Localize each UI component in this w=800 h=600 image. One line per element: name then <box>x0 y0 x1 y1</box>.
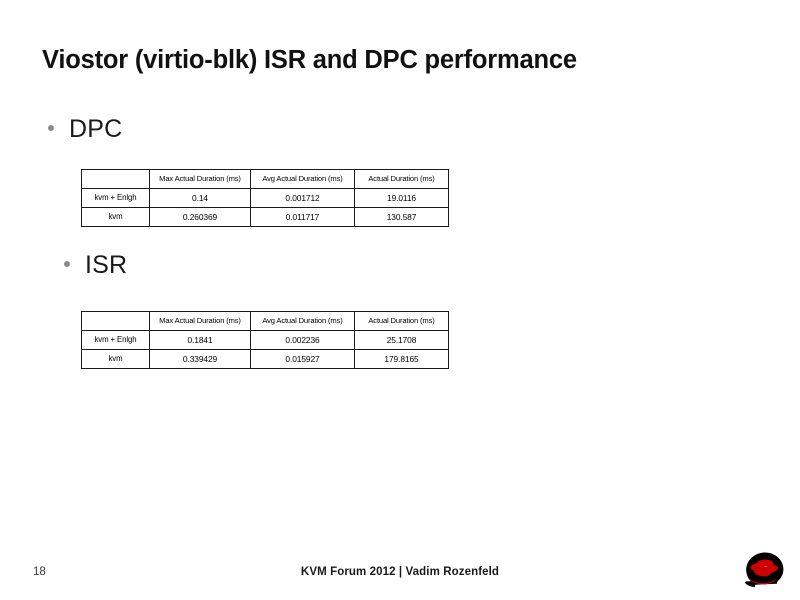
slide-canvas: Viostor (virtio-blk) ISR and DPC perform… <box>0 0 800 600</box>
bullet-dot-icon <box>48 125 54 131</box>
cell-avg-actual-duration: 0.011717 <box>251 208 355 227</box>
bullet-dot-icon <box>64 261 70 267</box>
row-label-kvm-enlgh: kvm + Enlgh <box>82 189 150 208</box>
bullet-label-isr: ISR <box>85 251 127 280</box>
column-header-actual-duration: Actual Duration (ms) <box>355 312 449 331</box>
cell-max-actual-duration: 0.339429 <box>150 350 251 369</box>
cell-actual-duration: 130.587 <box>355 208 449 227</box>
cell-max-actual-duration: 0.260369 <box>150 208 251 227</box>
dpc-performance-table: Max Actual Duration (ms) Avg Actual Dura… <box>81 169 449 227</box>
cell-avg-actual-duration: 0.015927 <box>251 350 355 369</box>
row-label-kvm-enlgh: kvm + Enlgh <box>82 331 150 350</box>
red-hat-shadowman-icon <box>742 551 788 593</box>
page-title: Viostor (virtio-blk) ISR and DPC perform… <box>42 46 742 75</box>
table-header-row: Max Actual Duration (ms) Avg Actual Dura… <box>82 312 449 331</box>
isr-performance-table: Max Actual Duration (ms) Avg Actual Dura… <box>81 311 449 369</box>
cell-actual-duration: 19.0116 <box>355 189 449 208</box>
column-header-avg-actual-duration: Avg Actual Duration (ms) <box>251 170 355 189</box>
cell-actual-duration: 25.1708 <box>355 331 449 350</box>
bullet-label-dpc: DPC <box>69 115 122 144</box>
table-corner-cell <box>82 312 150 331</box>
table-row: kvm 0.260369 0.011717 130.587 <box>82 208 449 227</box>
column-header-avg-actual-duration: Avg Actual Duration (ms) <box>251 312 355 331</box>
table-row: kvm + Enlgh 0.1841 0.002236 25.1708 <box>82 331 449 350</box>
cell-max-actual-duration: 0.14 <box>150 189 251 208</box>
red-hat-shadowman-logo <box>742 551 788 593</box>
cell-actual-duration: 179.8165 <box>355 350 449 369</box>
row-label-kvm: kvm <box>82 208 150 227</box>
row-label-kvm: kvm <box>82 350 150 369</box>
bullet-item-dpc: DPC <box>48 115 122 144</box>
table-row: kvm 0.339429 0.015927 179.8165 <box>82 350 449 369</box>
table-row: kvm + Enlgh 0.14 0.001712 19.0116 <box>82 189 449 208</box>
cell-max-actual-duration: 0.1841 <box>150 331 251 350</box>
column-header-max-actual-duration: Max Actual Duration (ms) <box>150 312 251 331</box>
column-header-max-actual-duration: Max Actual Duration (ms) <box>150 170 251 189</box>
table-header-row: Max Actual Duration (ms) Avg Actual Dura… <box>82 170 449 189</box>
cell-avg-actual-duration: 0.001712 <box>251 189 355 208</box>
bullet-item-isr: ISR <box>64 251 127 280</box>
table-corner-cell <box>82 170 150 189</box>
cell-avg-actual-duration: 0.002236 <box>251 331 355 350</box>
footer-event-credit: KVM Forum 2012 | Vadim Rozenfeld <box>0 566 800 578</box>
column-header-actual-duration: Actual Duration (ms) <box>355 170 449 189</box>
